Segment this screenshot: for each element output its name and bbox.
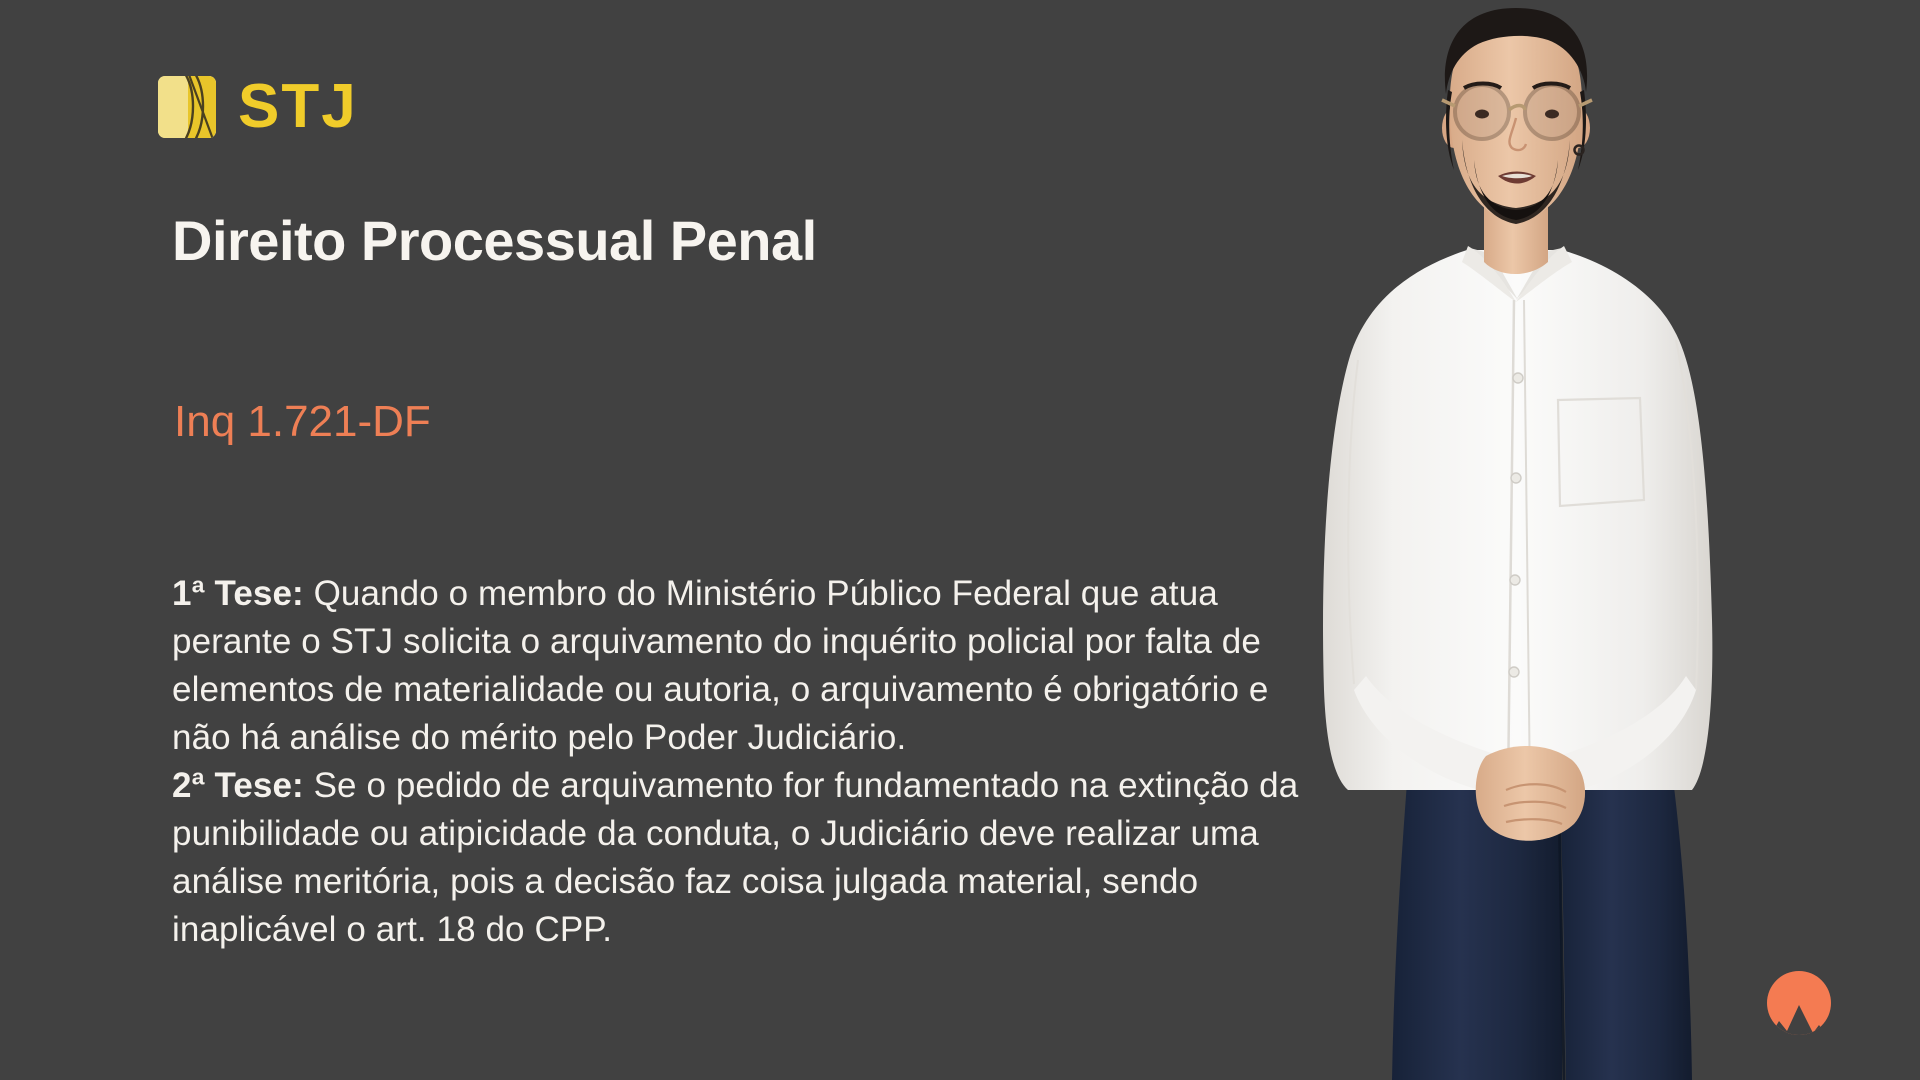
presenter-cutout — [1262, 0, 1782, 1080]
brand-lockup: STJ — [158, 76, 358, 138]
presenter-head — [1442, 8, 1592, 224]
slide-root: STJ Direito Processual Penal Inq 1.721-D… — [0, 0, 1920, 1080]
case-number: Inq 1.721-DF — [174, 398, 431, 446]
brand-name: STJ — [238, 76, 358, 138]
thesis-paragraph-1: 1ª Tese: Quando o membro do Ministério P… — [172, 570, 1332, 762]
presenter-hands — [1476, 746, 1585, 841]
thesis-paragraph-2: 2ª Tese: Se o pedido de arquivamento for… — [172, 762, 1332, 954]
thesis-label-1: 1ª Tese: — [172, 574, 304, 613]
thesis-body: 1ª Tese: Quando o membro do Ministério P… — [172, 570, 1332, 954]
thesis-label-2: 2ª Tese: — [172, 766, 304, 805]
mountain-circle-logo-icon — [1757, 965, 1841, 1049]
presenter-neck — [1484, 190, 1548, 274]
presenter-shirt — [1323, 246, 1712, 794]
presenter-trousers — [1392, 720, 1692, 1080]
thesis-text-2: Se o pedido de arquivamento for fundamen… — [172, 766, 1298, 949]
stj-book-mark-icon — [158, 76, 216, 138]
thesis-text-1: Quando o membro do Ministério Público Fe… — [172, 574, 1268, 757]
page-title: Direito Processual Penal — [172, 212, 817, 271]
